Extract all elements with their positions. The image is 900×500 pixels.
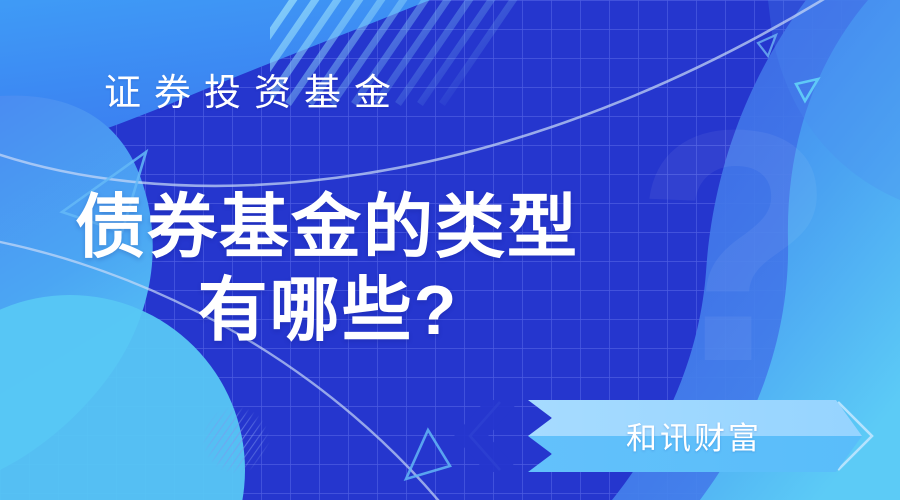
page-subtitle: 证券投资基金 — [104, 74, 404, 111]
brand-banner: 和讯财富 — [486, 398, 900, 472]
brand-label: 和讯财富 — [486, 398, 846, 472]
page-title-line-2: 有哪些? — [0, 269, 660, 352]
page-title: 债券基金的类型 有哪些? — [0, 186, 660, 351]
question-mark-watermark: ? — [634, 61, 836, 430]
poster-canvas: ? 证券投资基 — [0, 0, 900, 500]
page-title-line-1: 债券基金的类型 — [0, 186, 660, 269]
striped-circle-bottom-left — [202, 406, 270, 474]
